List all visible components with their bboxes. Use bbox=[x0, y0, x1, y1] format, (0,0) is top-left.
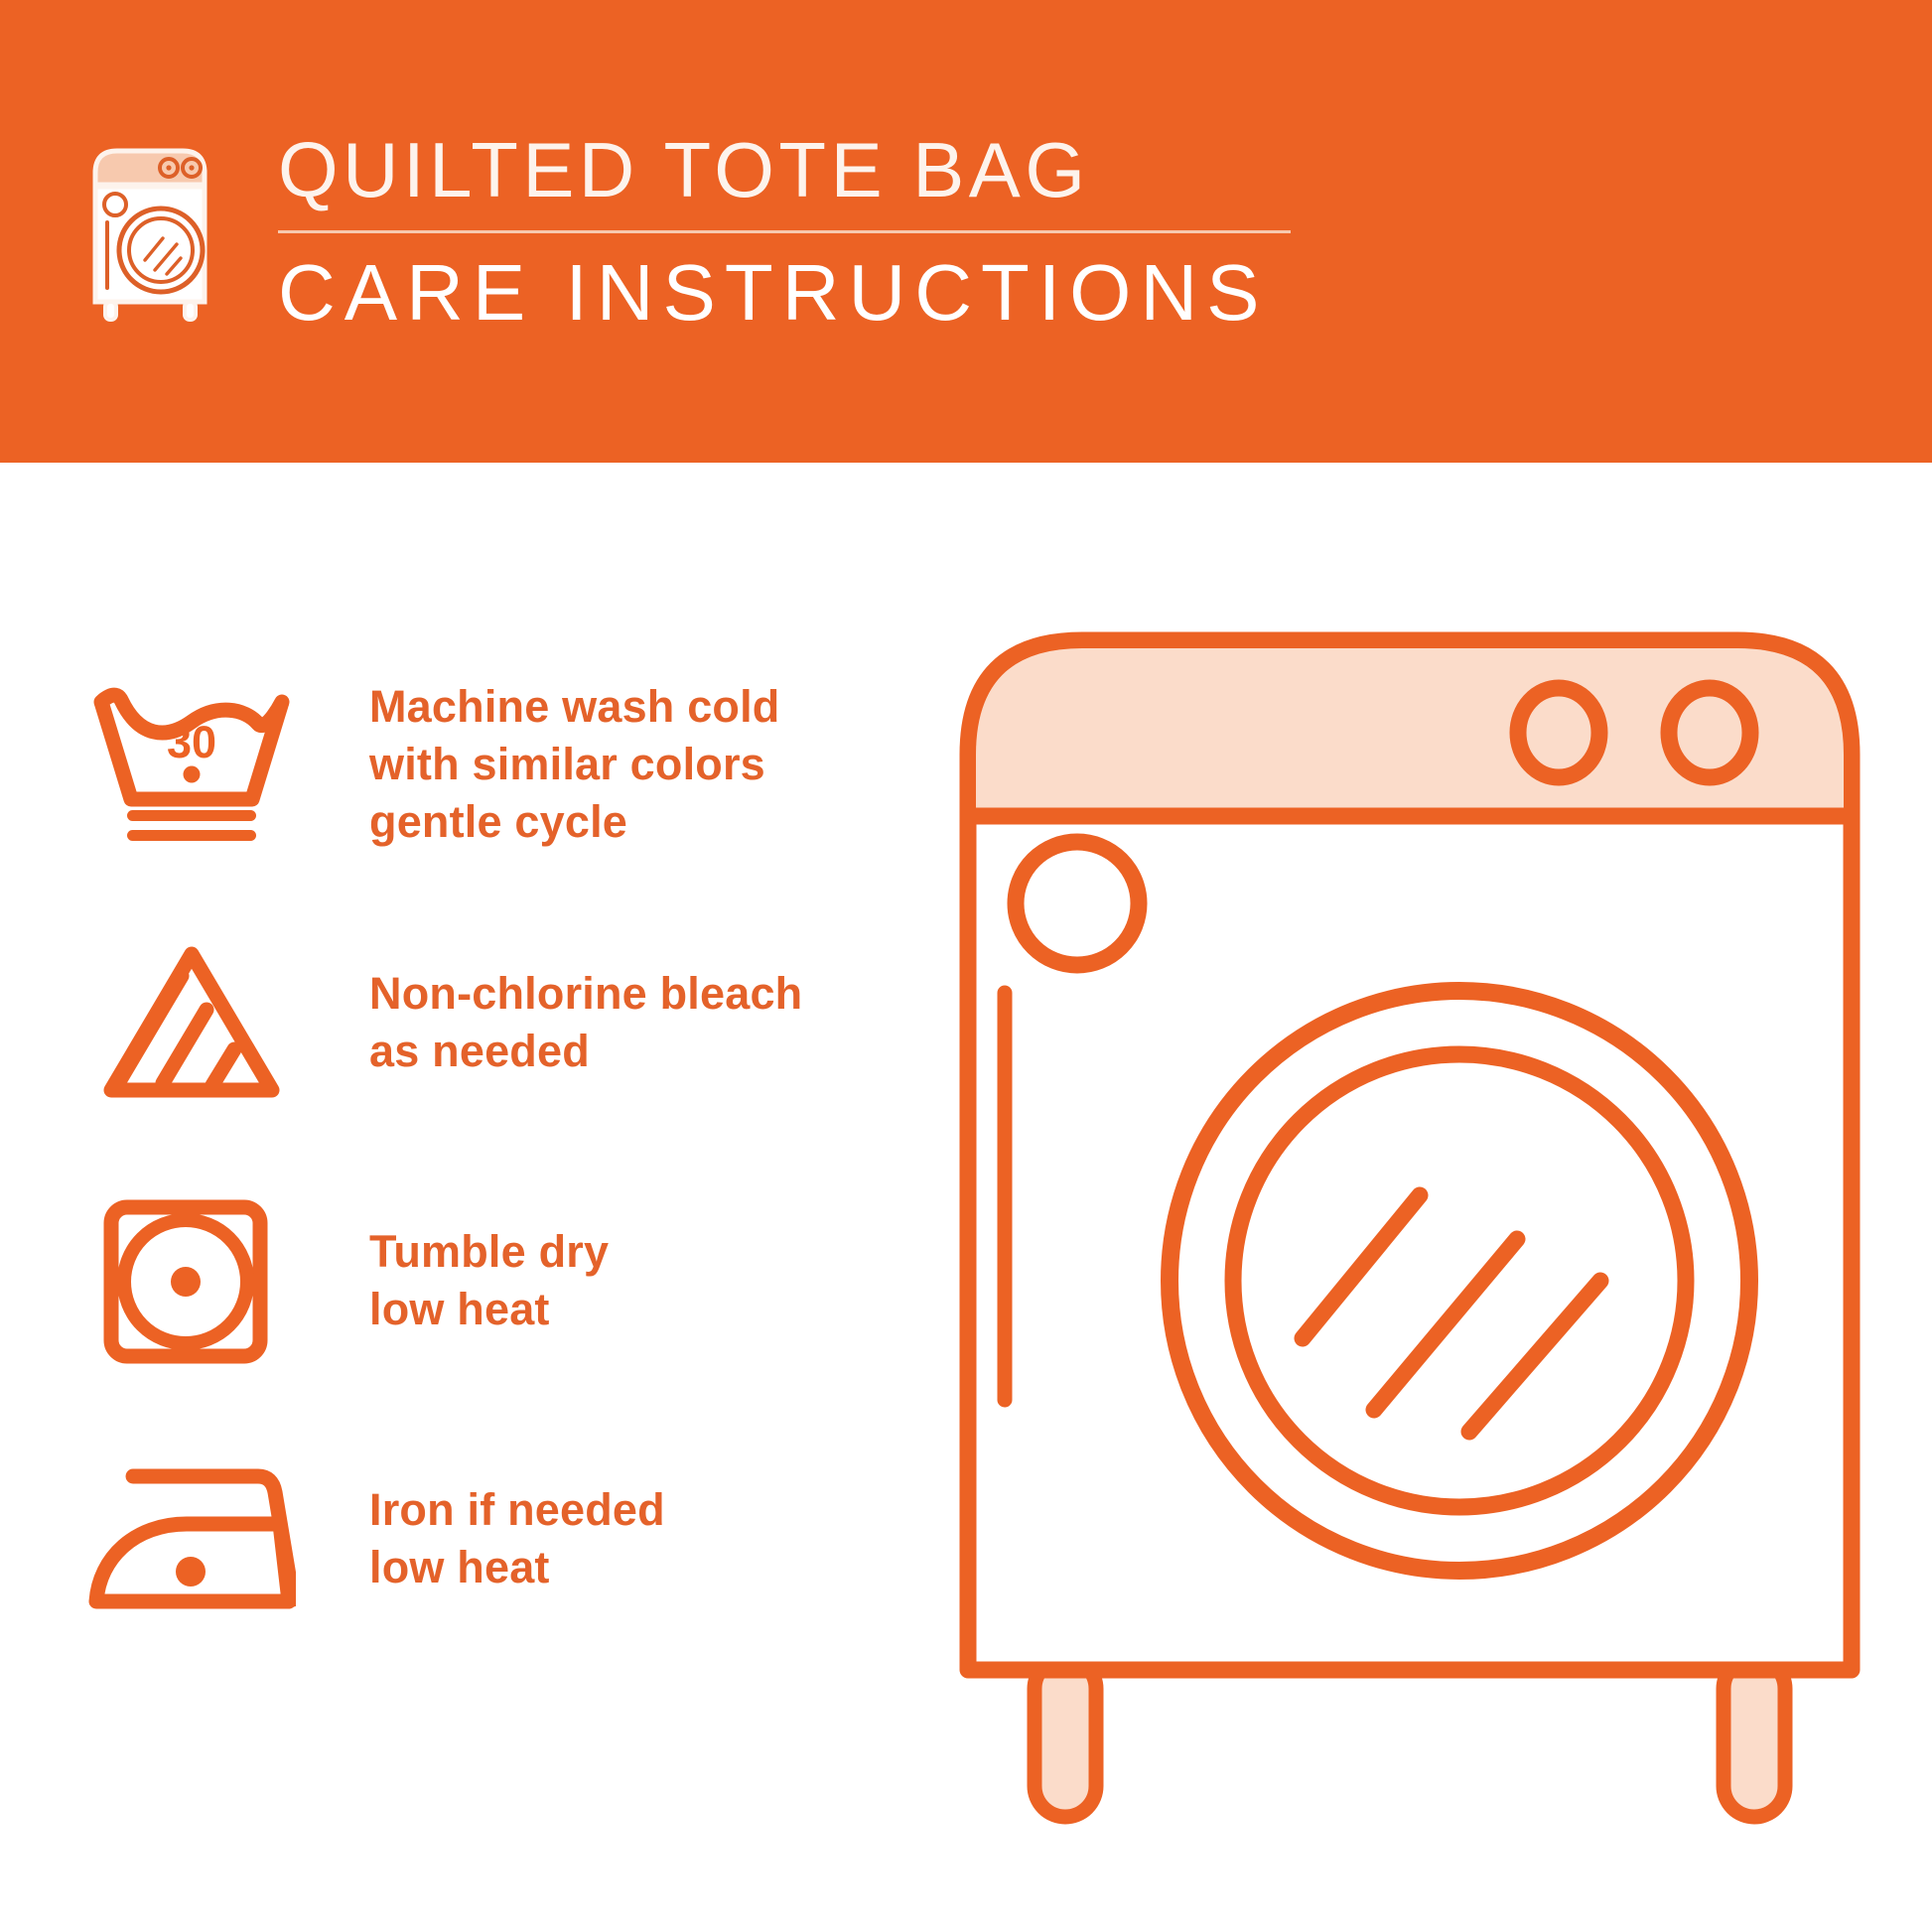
care-row-label: Non-chlorine bleach as needed bbox=[369, 965, 802, 1080]
care-row-label: Tumble dry low heat bbox=[369, 1223, 609, 1338]
large-washing-machine-illustration bbox=[953, 625, 1866, 1886]
care-row: 30 Machine wash cold with similar colors… bbox=[0, 635, 943, 894]
care-row: Non-chlorine bleach as needed bbox=[0, 894, 943, 1152]
care-instruction-list: 30 Machine wash cold with similar colors… bbox=[0, 635, 943, 1668]
header-content: QUILTED TOTE BAG CARE INSTRUCTIONS bbox=[77, 131, 1291, 333]
header-title-group: QUILTED TOTE BAG CARE INSTRUCTIONS bbox=[278, 131, 1291, 333]
low-heat-dot bbox=[171, 1267, 201, 1297]
knob-left bbox=[1518, 688, 1599, 777]
gentle-cycle-dot bbox=[184, 765, 201, 782]
care-row: Tumble dry low heat bbox=[0, 1152, 943, 1410]
wash-tub-30-gentle-icon: 30 bbox=[87, 678, 304, 852]
care-row-label: Machine wash cold with similar colors ge… bbox=[369, 678, 780, 851]
iron-low-heat-icon bbox=[87, 1452, 304, 1626]
care-row: Iron if needed low heat bbox=[0, 1410, 943, 1668]
knob-right bbox=[1669, 688, 1750, 777]
tumble-dry-low-heat-icon bbox=[87, 1194, 304, 1368]
header-banner: QUILTED TOTE BAG CARE INSTRUCTIONS bbox=[0, 0, 1932, 463]
wash-temperature-label: 30 bbox=[167, 717, 216, 767]
leg-left bbox=[1035, 1658, 1096, 1817]
low-heat-dot bbox=[176, 1557, 206, 1587]
title-divider bbox=[278, 230, 1291, 233]
page-title: CARE INSTRUCTIONS bbox=[278, 253, 1291, 333]
non-chlorine-bleach-triangle-icon bbox=[87, 936, 304, 1110]
washing-machine-icon bbox=[77, 137, 236, 326]
product-title: QUILTED TOTE BAG bbox=[278, 131, 1291, 208]
leg-right bbox=[1724, 1658, 1785, 1817]
care-row-label: Iron if needed low heat bbox=[369, 1481, 665, 1596]
